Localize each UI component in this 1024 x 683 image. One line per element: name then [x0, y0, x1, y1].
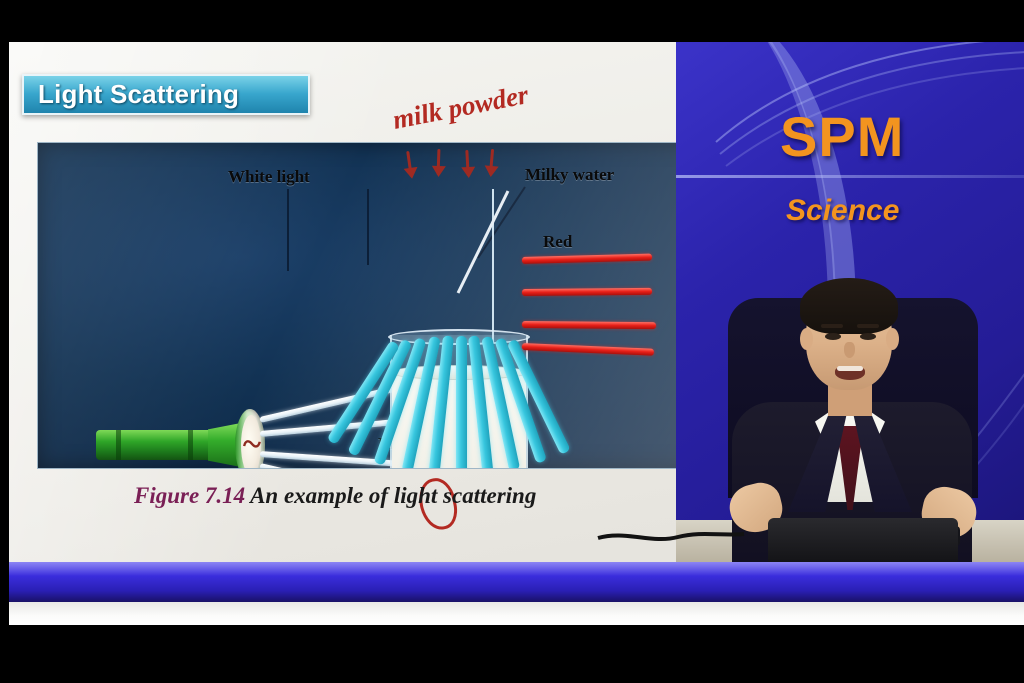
video-frame: Light Scattering White light Milky water…: [0, 0, 1024, 683]
presenter-eye-right: [860, 333, 876, 340]
cyan-ray-5: [456, 336, 467, 469]
logo-science: Science: [786, 194, 899, 228]
flashlight-body: [96, 430, 214, 460]
figure-diagram: White light Milky water Red Bluish-white…: [37, 142, 715, 469]
letterbox-top: [0, 0, 1024, 42]
figure-caption-text: An example of light scattering: [250, 483, 536, 508]
desk-cable: [596, 528, 746, 544]
presenter-hair: [800, 278, 898, 334]
panel-divider: [676, 175, 1024, 178]
flashlight-band-2: [188, 430, 193, 460]
figure-caption: Figure 7.14 An example of light scatteri…: [134, 483, 536, 509]
bottom-blue-bar: [9, 562, 1024, 602]
presenter-teeth: [837, 366, 863, 371]
letterbox-bottom: [0, 625, 1024, 683]
letterbox-left: [0, 0, 9, 683]
presenter-ear-left: [800, 328, 813, 350]
slide-title-banner: Light Scattering: [22, 74, 310, 115]
logo-spm: SPM: [780, 104, 904, 169]
presenter-ear-right: [886, 328, 899, 350]
presenter-eye-left: [825, 333, 841, 340]
laptop-icon: [768, 518, 958, 562]
presenter-nose: [844, 342, 855, 358]
red-ray-3: [522, 321, 656, 329]
figure-number: Figure 7.14: [134, 483, 245, 508]
page-title: Light Scattering: [24, 79, 239, 110]
flashlight-band-1: [116, 430, 121, 460]
presenter-eyebrow-right: [857, 324, 879, 328]
ink-arrow-2: [437, 149, 441, 175]
bottom-bar-gloss: [9, 562, 1024, 576]
bottom-white-strip: [9, 602, 1024, 625]
presenter-eyebrow-left: [821, 324, 843, 328]
presenter-video-feed: [676, 250, 1024, 562]
red-ray-2: [522, 288, 652, 296]
